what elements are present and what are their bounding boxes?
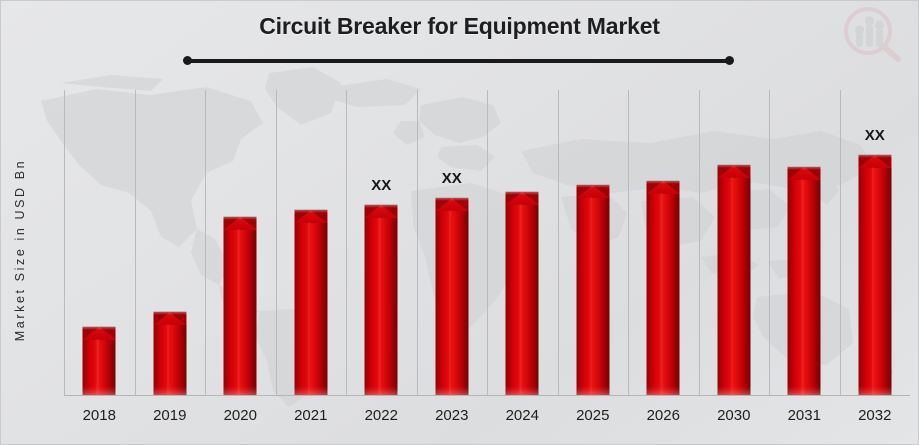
- bar-body: [224, 229, 257, 396]
- bar-2022[interactable]: [365, 204, 398, 396]
- bar-value-label-2032: XX: [865, 127, 885, 144]
- bar-top-cap: [788, 166, 821, 180]
- bar-2020[interactable]: [224, 216, 257, 396]
- bar-2030[interactable]: [717, 164, 750, 396]
- x-tick-label-2021: 2021: [276, 407, 347, 424]
- bar-slot: [276, 90, 347, 396]
- bar-slot: [64, 90, 135, 396]
- bar-slot: [558, 90, 629, 396]
- page-title: Circuit Breaker for Equipment Market: [1, 13, 918, 40]
- x-tick-label-2020: 2020: [205, 407, 276, 424]
- bar-2019[interactable]: [153, 311, 186, 396]
- bar-2024[interactable]: [506, 191, 539, 396]
- rule-line: [188, 59, 729, 63]
- bar-body: [153, 324, 186, 396]
- bar-slot: XX: [346, 90, 417, 396]
- x-tick-label-2023: 2023: [417, 407, 488, 424]
- rule-dot-right-icon: [725, 56, 734, 65]
- bar-body: [435, 210, 468, 396]
- bar-top-cap: [294, 209, 327, 223]
- bar-2031[interactable]: [788, 166, 821, 396]
- x-tick-label-2030: 2030: [699, 407, 770, 424]
- bar-value-label-2023: XX: [442, 170, 462, 187]
- bar-2018[interactable]: [83, 326, 116, 396]
- bar-slot: [628, 90, 699, 396]
- bar-2025[interactable]: [576, 184, 609, 396]
- x-tick-label-2032: 2032: [840, 407, 911, 424]
- bar-top-cap: [224, 216, 257, 230]
- chart-container: Circuit Breaker for Equipment Market Mar…: [0, 0, 919, 445]
- bar-slot: [205, 90, 276, 396]
- bar-top-cap: [153, 311, 186, 325]
- bar-slot: [699, 90, 770, 396]
- x-tick-label-2024: 2024: [487, 407, 558, 424]
- bar-top-cap: [717, 164, 750, 178]
- bar-body: [294, 222, 327, 396]
- bar-body: [365, 217, 398, 396]
- bar-2023[interactable]: [435, 197, 468, 396]
- bar-body: [858, 167, 891, 396]
- x-axis-baseline: [64, 395, 910, 396]
- plot-area: XXXXXX: [64, 90, 910, 396]
- bar-slot: [487, 90, 558, 396]
- bar-value-label-2022: XX: [371, 177, 391, 194]
- bar-top-cap: [647, 180, 680, 194]
- bar-2021[interactable]: [294, 209, 327, 396]
- x-tick-label-2022: 2022: [346, 407, 417, 424]
- bar-slot: XX: [840, 90, 911, 396]
- bar-slot: [135, 90, 206, 396]
- bar-body: [788, 179, 821, 396]
- bar-slot: [769, 90, 840, 396]
- bar-slot: XX: [417, 90, 488, 396]
- x-tick-label-2019: 2019: [135, 407, 206, 424]
- bar-top-cap: [858, 154, 891, 168]
- x-tick-label-2025: 2025: [558, 407, 629, 424]
- y-axis-title: Market Size in USD Bn: [13, 85, 27, 415]
- bar-body: [717, 177, 750, 396]
- x-tick-label-2031: 2031: [769, 407, 840, 424]
- title-underline-rule: [183, 56, 734, 65]
- bar-body: [576, 197, 609, 396]
- bar-top-cap: [435, 197, 468, 211]
- bar-body: [83, 339, 116, 396]
- bar-top-cap: [365, 204, 398, 218]
- x-tick-label-2026: 2026: [628, 407, 699, 424]
- bar-top-cap: [506, 191, 539, 205]
- bar-body: [647, 193, 680, 396]
- bar-2032[interactable]: [858, 154, 891, 396]
- bar-top-cap: [576, 184, 609, 198]
- bar-top-cap: [83, 326, 116, 340]
- x-tick-label-2018: 2018: [64, 407, 135, 424]
- bar-body: [506, 204, 539, 396]
- bar-2026[interactable]: [647, 180, 680, 396]
